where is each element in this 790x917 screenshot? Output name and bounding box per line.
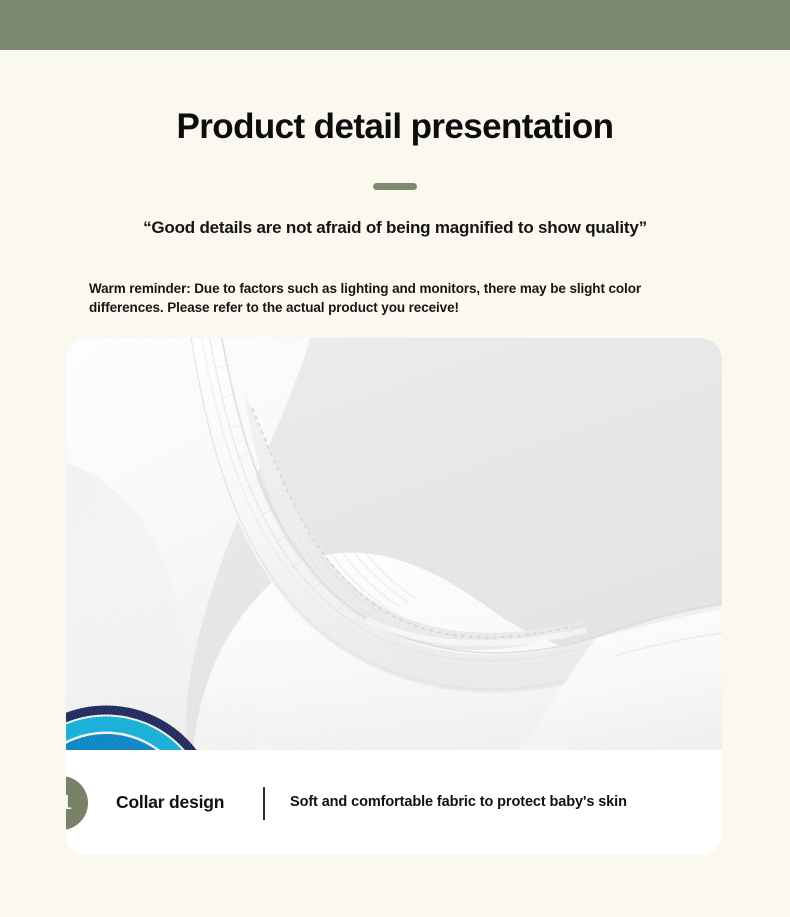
caption-strip: 01 Collar design Soft and comfortable fa… — [66, 750, 722, 855]
caption-title: Collar design — [116, 792, 224, 813]
title-divider-dash — [373, 183, 417, 190]
warm-reminder-text: Warm reminder: Due to factors such as li… — [89, 279, 699, 317]
page-subtitle-quote: “Good details are not afraid of being ma… — [0, 215, 790, 241]
page-title: Product detail presentation — [0, 105, 790, 149]
product-detail-card: 01 Collar design Soft and comfortable fa… — [66, 338, 722, 855]
caption-number-badge: 01 — [66, 776, 88, 830]
top-banner — [0, 0, 790, 50]
caption-divider — [263, 787, 265, 820]
product-photo — [66, 338, 722, 750]
tshirt-collar-photo-illustration — [66, 338, 722, 750]
caption-description: Soft and comfortable fabric to protect b… — [290, 794, 627, 810]
